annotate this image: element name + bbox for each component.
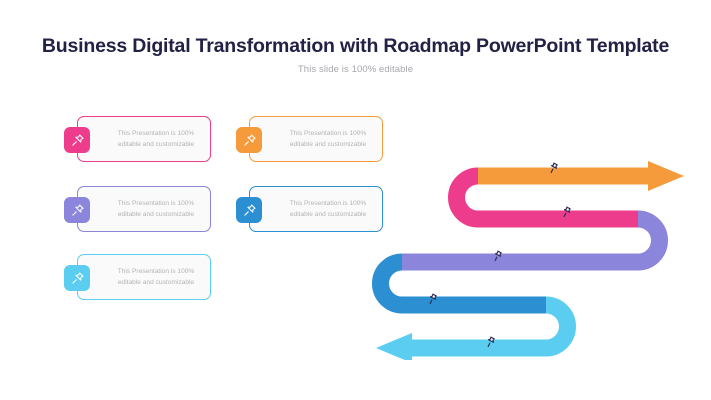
page-subtitle: This slide is 100% editable [0,64,711,75]
page-title: Business Digital Transformation with Roa… [0,36,711,57]
pushpin-badge-2[interactable] [236,127,262,153]
roadmap-segment-orange [478,161,684,191]
pushpin-icon [70,271,85,286]
info-card-3[interactable]: This Presentation is 100% editable and c… [77,186,211,232]
roadmap-graphic [350,100,711,360]
info-card-label: This Presentation is 100% editable and c… [104,187,208,233]
slide-canvas: Business Digital Transformation with Roa… [0,0,711,400]
pushpin-badge-3[interactable] [64,197,90,223]
pushpin-icon [70,203,85,218]
pushpin-badge-1[interactable] [64,127,90,153]
pushpin-icon [242,133,257,148]
pushpin-icon [242,203,257,218]
pushpin-badge-4[interactable] [236,197,262,223]
pushpin-icon [70,133,85,148]
roadmap-svg [350,100,711,360]
slide-header: Business Digital Transformation with Roa… [0,36,711,75]
info-card-label: This Presentation is 100% editable and c… [104,117,208,163]
info-card-1[interactable]: This Presentation is 100% editable and c… [77,116,211,162]
info-card-5[interactable]: This Presentation is 100% editable and c… [77,254,211,300]
info-card-label: This Presentation is 100% editable and c… [104,255,208,301]
pushpin-badge-5[interactable] [64,265,90,291]
